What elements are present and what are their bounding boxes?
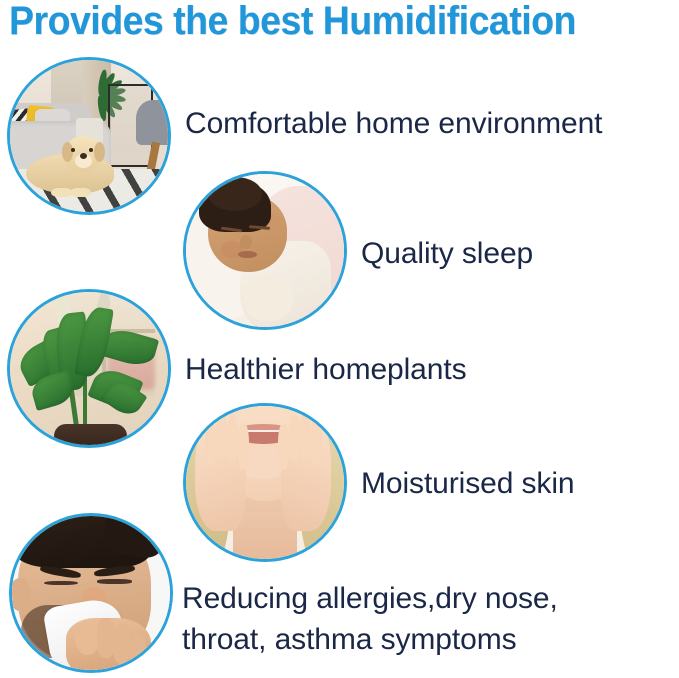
feature-image-healthier-homeplants [7,289,171,448]
feature-caption-comfortable-home: Comfortable home environment [185,105,679,143]
page-title: Provides the best Humidification [9,0,635,46]
feature-caption-healthier-homeplants: Healthier homeplants [185,351,679,389]
feature-image-reducing-allergies [9,513,173,673]
green-houseplant-photo [10,292,168,445]
feature-caption-quality-sleep: Quality sleep [361,235,679,273]
feature-image-quality-sleep [183,171,347,330]
living-room-with-dog-photo [10,60,168,212]
feature-caption-moisturised-skin: Moisturised skin [361,465,679,503]
feature-image-moisturised-skin [183,403,347,562]
sleeping-baby-photo [186,174,344,327]
woman-touching-face-photo [186,406,344,559]
product-feature-infographic: Provides the best Humidification [0,0,679,678]
man-blowing-nose-photo [12,516,170,670]
feature-caption-reducing-allergies: Reducing allergies,dry nose, throat, ast… [182,578,679,660]
feature-image-comfortable-home [7,57,171,215]
